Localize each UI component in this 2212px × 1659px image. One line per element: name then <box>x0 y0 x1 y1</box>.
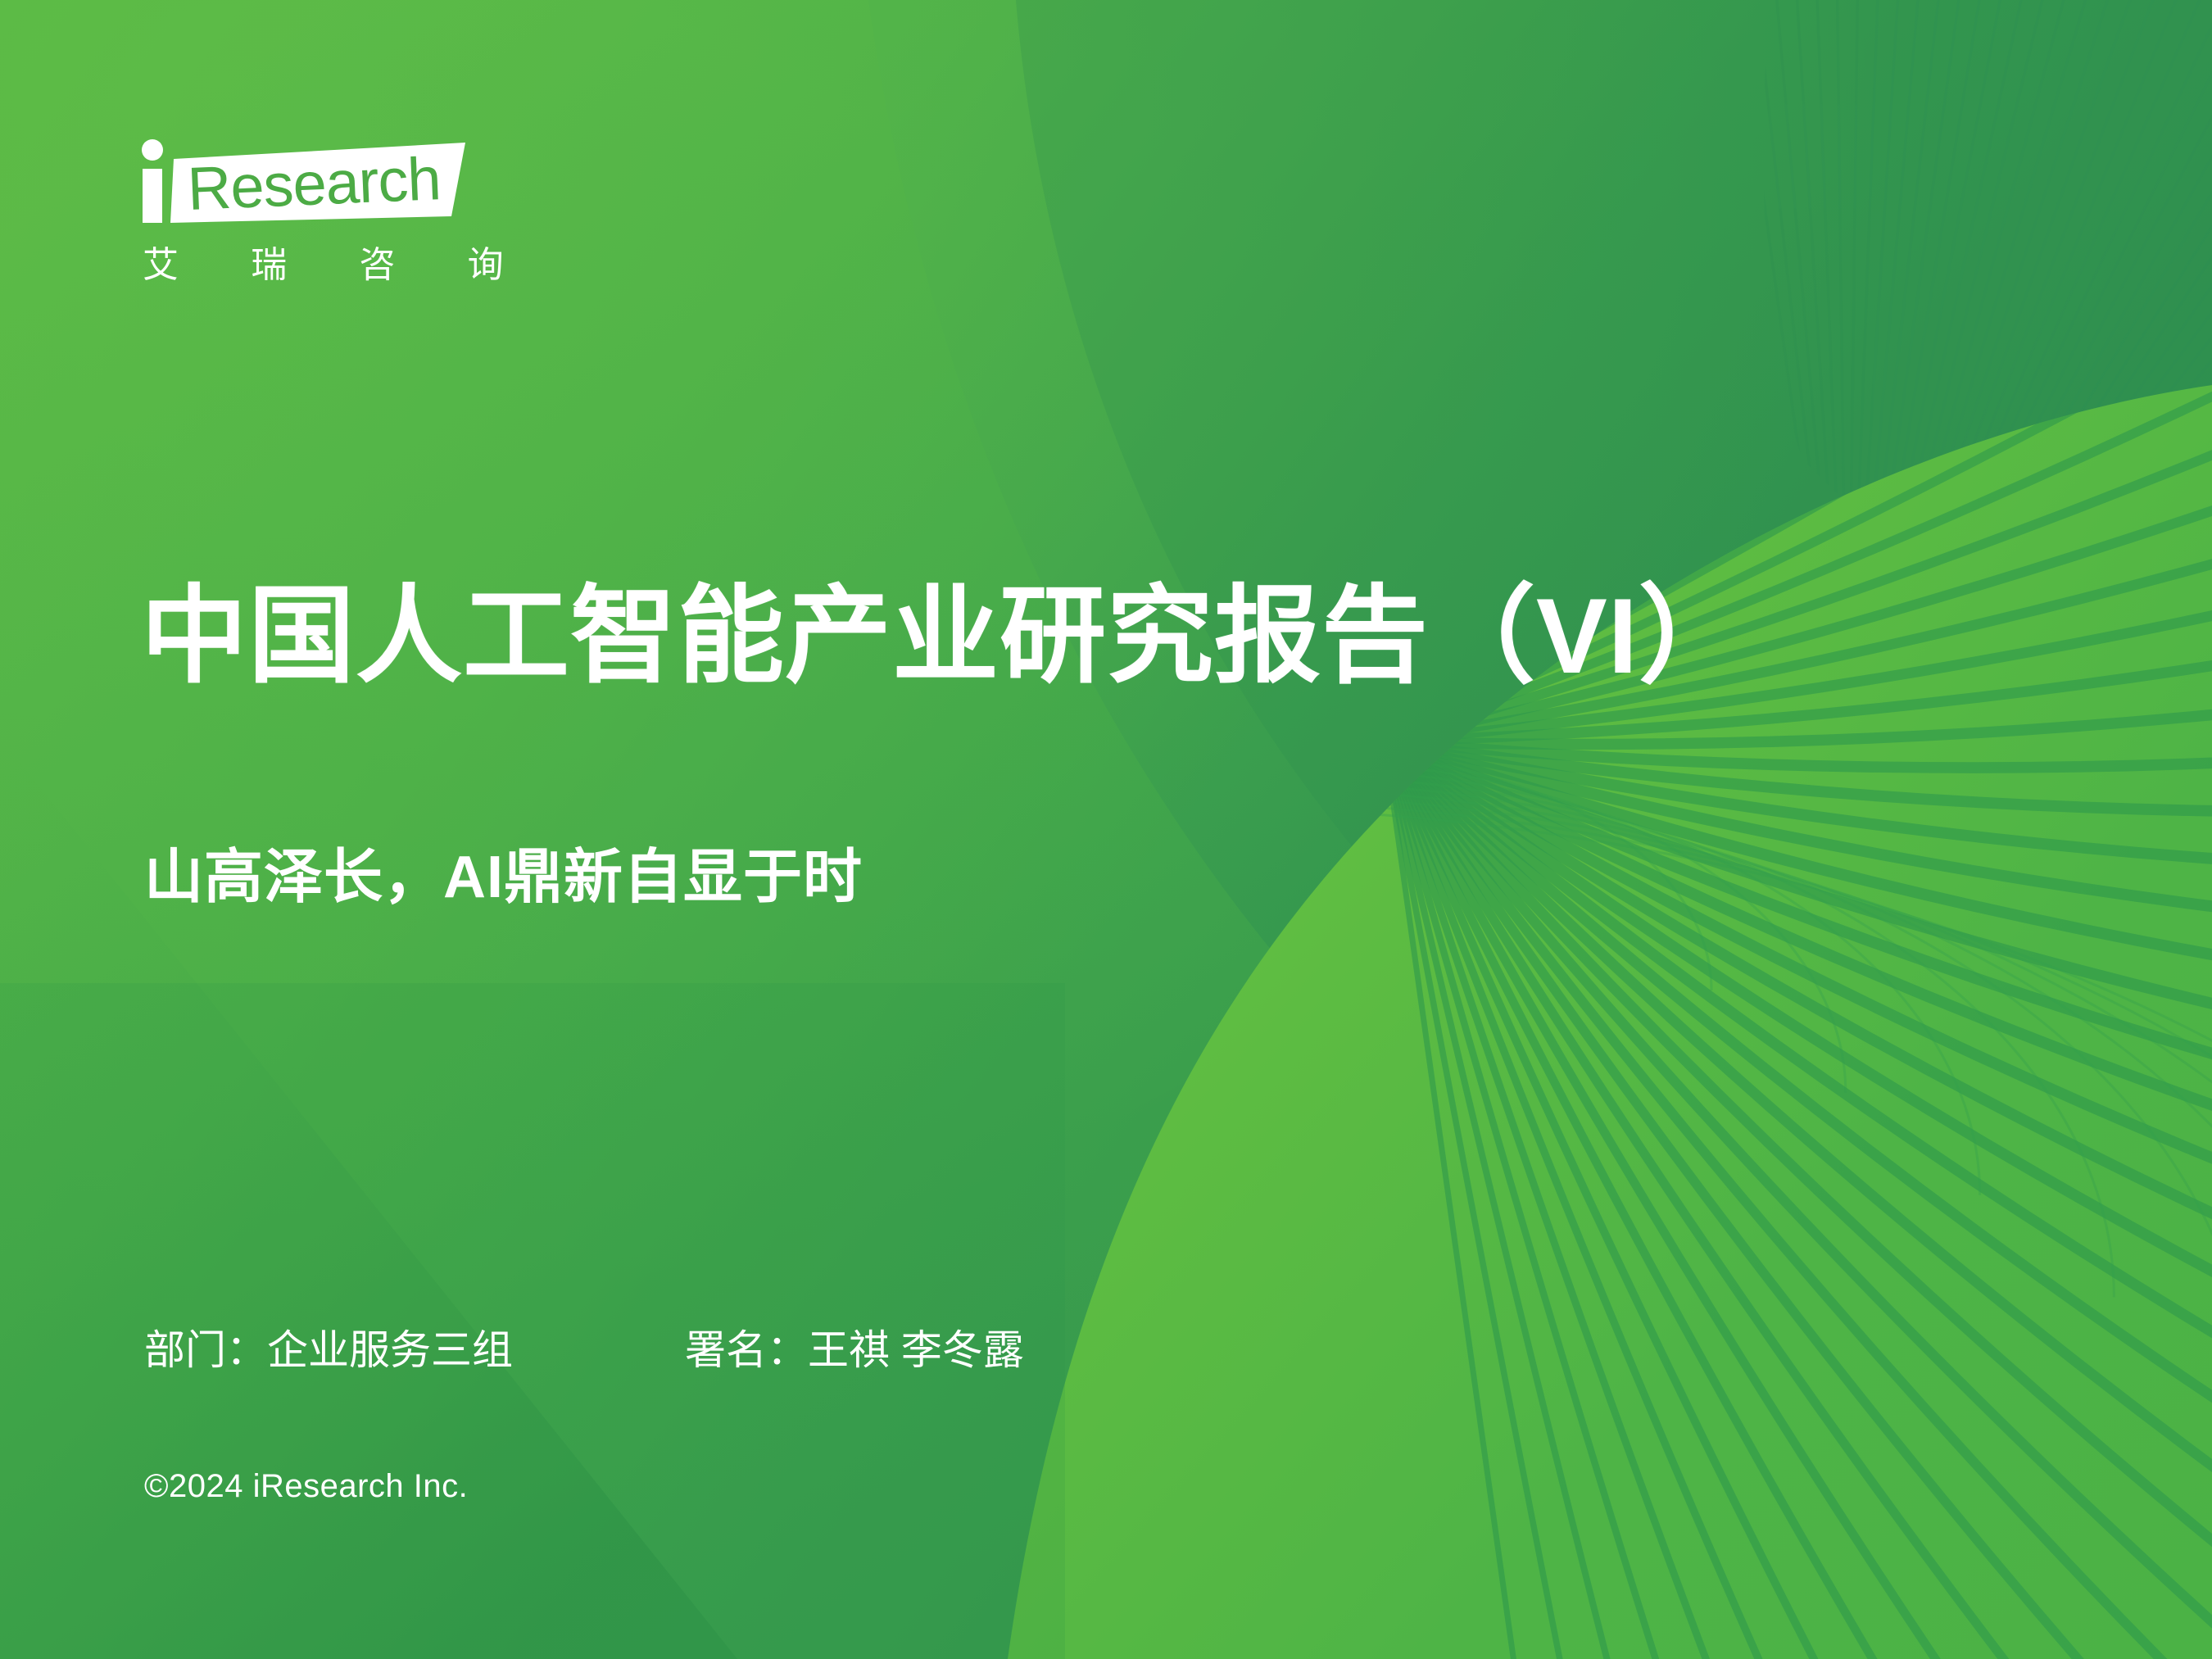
page-title: 中国人工智能产业研究报告（VI） <box>141 573 1746 699</box>
department-label: 部门：企业服务三组 <box>144 1326 513 1375</box>
brand-logo: Research 艾 瑞 咨 询 <box>138 138 482 283</box>
report-cover-slide: Research 艾 瑞 咨 询 中国人工智能产业研究报告（VI） 山高泽长，A… <box>0 0 2212 1659</box>
page-subtitle: 山高泽长，AI鼎新自显于时 <box>144 841 863 914</box>
copyright-notice: ©2024 iResearch Inc. <box>144 1466 468 1506</box>
svg-text:Research: Research <box>186 144 442 223</box>
iresearch-logo-icon: Research <box>138 138 465 226</box>
brand-logo-cn: 艾 瑞 咨 询 <box>143 247 482 283</box>
signature-label: 署名：王祺 李冬露 <box>685 1326 1024 1375</box>
cover-meta: 部门：企业服务三组 署名：王祺 李冬露 <box>144 1326 1024 1375</box>
